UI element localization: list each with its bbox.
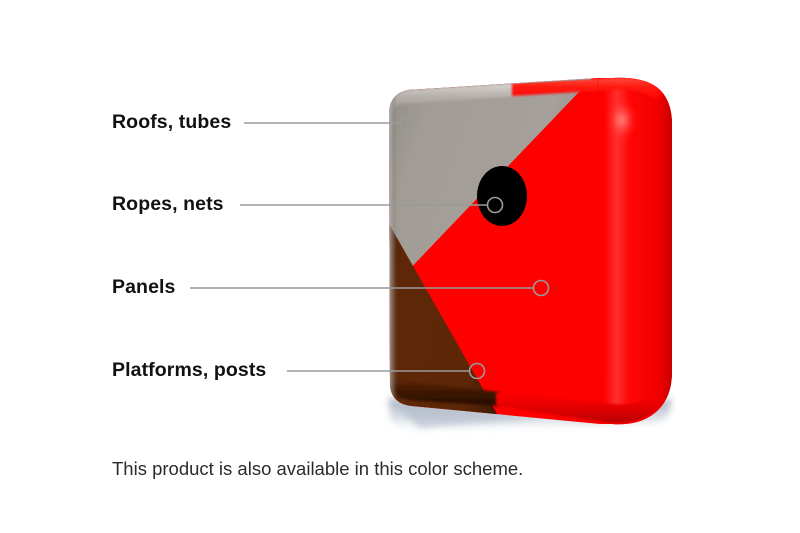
product-solid <box>380 70 672 440</box>
callout-label-roofs-tubes: Roofs, tubes <box>112 113 231 133</box>
right-side-face <box>598 78 672 424</box>
figure-canvas: Roofs, tubes Ropes, nets Panels Platform… <box>0 0 800 533</box>
ropes-nets-region <box>477 166 527 226</box>
figure-caption: This product is also available in this c… <box>112 458 523 480</box>
callout-label-ropes-nets: Ropes, nets <box>112 195 224 215</box>
left-bevel <box>388 96 397 401</box>
product-illustration <box>0 0 800 533</box>
callout-label-platforms-posts: Platforms, posts <box>112 361 266 381</box>
specular-highlight <box>608 98 636 142</box>
callout-label-panels: Panels <box>112 278 175 298</box>
